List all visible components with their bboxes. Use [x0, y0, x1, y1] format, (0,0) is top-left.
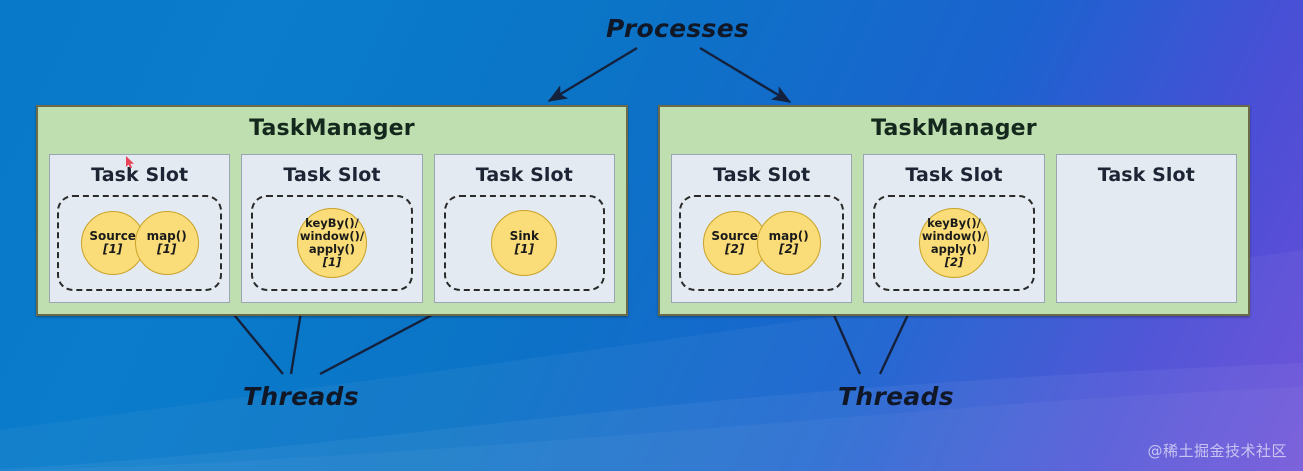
- watermark: @稀土掘金技术社区: [1147, 440, 1287, 461]
- task-slot-left-2[interactable]: Task Slot keyBy()/ window()/ apply() [1]: [241, 154, 422, 303]
- taskmanager-left-title: TaskManager: [38, 116, 626, 141]
- operator-index: [1]: [515, 243, 534, 256]
- operator-label: Source: [89, 230, 136, 243]
- operator-index: [1]: [323, 256, 342, 269]
- taskmanager-right[interactable]: TaskManager Task Slot Source [2] map() […: [658, 105, 1250, 316]
- operator-map-1[interactable]: map() [1]: [135, 211, 199, 275]
- task-slot-right-1[interactable]: Task Slot Source [2] map() [2]: [671, 154, 852, 303]
- thread-box-right-2: keyBy()/ window()/ apply() [2]: [873, 195, 1034, 291]
- thread-box-left-1: Source [1] map() [1]: [57, 195, 222, 291]
- diagram-stage: Processes Threads Threads TaskManager Ta…: [0, 0, 1303, 471]
- thread-box-left-3: Sink [1]: [444, 195, 605, 291]
- task-slot-right-3-empty[interactable]: Task Slot: [1056, 154, 1237, 303]
- operator-index: [1]: [103, 243, 122, 256]
- taskmanager-right-slot-row: Task Slot Source [2] map() [2] Task Slot: [671, 154, 1237, 303]
- operator-label: Sink: [510, 230, 539, 243]
- operator-label: map(): [769, 230, 809, 243]
- operator-keyby-window-apply-1[interactable]: keyBy()/ window()/ apply() [1]: [297, 208, 367, 278]
- threads-label-left: Threads: [243, 382, 359, 411]
- taskmanager-left-slot-row: Task Slot Source [1] map() [1] Task Slot: [49, 154, 615, 303]
- task-slot-left-2-title: Task Slot: [242, 164, 421, 186]
- threads-label-right: Threads: [838, 382, 954, 411]
- thread-box-left-2: keyBy()/ window()/ apply() [1]: [251, 195, 412, 291]
- operator-index: [2]: [725, 243, 744, 256]
- task-slot-left-3[interactable]: Task Slot Sink [1]: [434, 154, 615, 303]
- taskmanager-right-title: TaskManager: [660, 116, 1248, 141]
- task-slot-left-3-title: Task Slot: [435, 164, 614, 186]
- task-slot-left-1[interactable]: Task Slot Source [1] map() [1]: [49, 154, 230, 303]
- arrow-processes-to-left-taskmanager: [549, 48, 637, 101]
- task-slot-right-2[interactable]: Task Slot keyBy()/ window()/ apply() [2]: [863, 154, 1044, 303]
- processes-label: Processes: [606, 14, 749, 43]
- task-slot-right-2-title: Task Slot: [864, 164, 1043, 186]
- operator-label: map(): [147, 230, 187, 243]
- thread-box-right-1: Source [2] map() [2]: [679, 195, 844, 291]
- operator-keyby-window-apply-2[interactable]: keyBy()/ window()/ apply() [2]: [919, 208, 989, 278]
- arrow-processes-to-right-taskmanager: [700, 48, 790, 102]
- operator-map-2[interactable]: map() [2]: [757, 211, 821, 275]
- task-slot-right-1-title: Task Slot: [672, 164, 851, 186]
- task-slot-right-3-title: Task Slot: [1057, 164, 1236, 186]
- taskmanager-left[interactable]: TaskManager Task Slot Source [1] map() […: [36, 105, 628, 316]
- operator-label-line3: apply(): [309, 243, 355, 256]
- operator-index: [2]: [779, 243, 798, 256]
- task-slot-left-1-title: Task Slot: [50, 164, 229, 186]
- operator-index: [2]: [945, 256, 964, 269]
- operator-label: Source: [711, 230, 758, 243]
- operator-index: [1]: [157, 243, 176, 256]
- operator-label-line3: apply(): [931, 243, 977, 256]
- operator-sink-1[interactable]: Sink [1]: [491, 210, 557, 276]
